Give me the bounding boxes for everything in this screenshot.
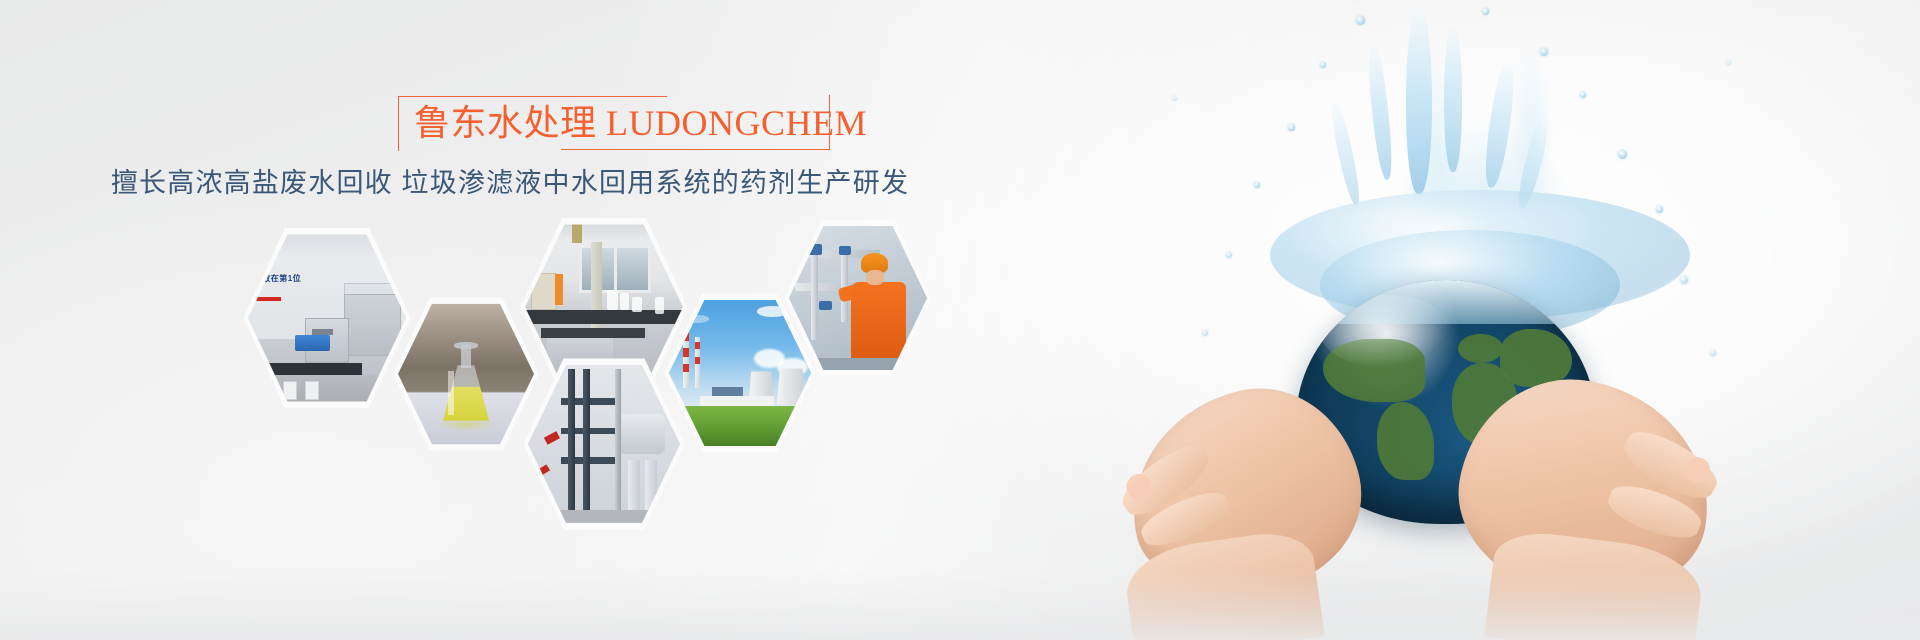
hero-banner: 鲁东水处理 LUDONGCHEM 擅长高浓高盐废水回收 垃圾渗滤液中水回用系统的… [0, 0, 1920, 640]
hands-holding-water-globe [1020, 0, 1920, 640]
hex-photo-yellow-reagent-flask [393, 294, 539, 454]
hex-photo-laboratory-room: 放在第1位 [243, 224, 411, 412]
bottom-fade [0, 570, 1920, 640]
hexagon-photo-cluster: 放在第1位 [0, 0, 1000, 640]
hex-photo-ro-membrane-skid [523, 355, 685, 533]
